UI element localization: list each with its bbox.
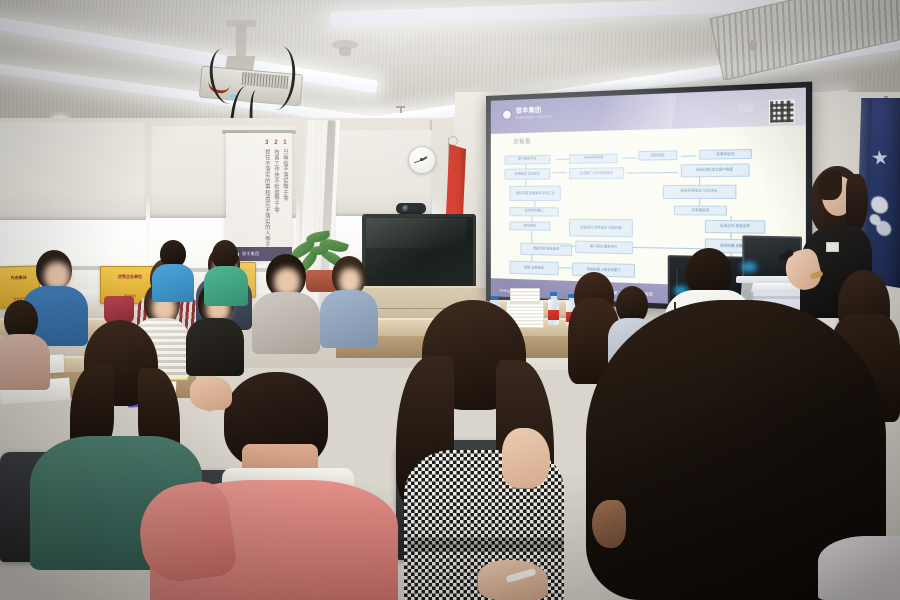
brand-mark-icon [502,109,513,120]
wall-clock-icon [408,146,436,174]
attendee [152,240,194,296]
attendee-checkered-dress [374,300,574,600]
attendee [252,254,322,350]
flow-node: 综合评审会议 讨论决议 [662,184,736,198]
flow-node: 出具正式 批复文件 [705,220,766,234]
flow-connector [680,155,695,156]
flow-connector [558,267,572,268]
banner-column: 2 布置工作信不检查等于零 [273,140,279,244]
attendee-foreground-silhouette [556,300,900,600]
collar [818,536,900,600]
hand [190,376,232,410]
podium-papers [751,284,797,292]
attendee [204,240,248,300]
slide-footer-left: Yinfeng [499,289,510,293]
flow-connector [531,255,532,262]
display-reflection [366,218,466,248]
banner-line: 布置工作信不检查等于零 [273,149,279,213]
attendee-pink-polo [150,372,400,600]
banner-number: 1 [283,140,286,147]
flow-connector [730,216,731,220]
flow-node: 资料初审受理 [570,153,618,163]
flow-node: 合同条款确认 [510,207,559,217]
slide-brand-logo: 银丰集团 YINFENG GROUP [502,107,552,120]
smoke-detector-icon [332,40,358,56]
flow-node: 结项 业务完成 [510,261,559,276]
flow-connector [730,233,731,239]
presenter-name-badge [826,242,839,252]
ear [592,500,626,548]
banner-number: 2 [274,140,277,147]
ceiling-hook [396,106,405,113]
flow-connector [553,172,567,173]
flow-connector [531,216,532,221]
flow-node: 资金划付 财务复核 记账处理 [570,219,633,238]
flow-connector [531,231,532,243]
flow-node: 审批流程 逐级审核 意见汇总 [510,185,561,201]
flow-connector [699,177,700,184]
flow-node: 专家组复核 [674,206,727,216]
qr-caption: 扫码关注 官方微信 [722,103,753,113]
banner-line: 抓住不落实的事和追究不落实的人等于落实 [264,149,270,259]
dress-waist [408,538,564,552]
flow-node: 签署协议书 [699,149,753,160]
flow-node: 现场勘查 实地核实 [504,168,550,180]
flow-connector [622,158,637,159]
qr-code-icon [769,99,795,124]
flow-connector [557,159,569,160]
flow-connector [699,199,700,206]
banner-line: 只命信不落实等于零 [282,149,288,201]
flow-node: 业务部门 初步审核意见 [570,167,624,180]
presenter-hair-side [846,174,868,232]
roller-blind[interactable] [0,122,146,220]
flow-connector [534,201,535,206]
flow-node: 客户提出申请 [504,154,550,164]
seminar-room-photo: 1 只命信不落实等于零 2 布置工作信不检查等于零 3 抓住不落实的事和追究不落… [0,0,900,600]
flow-node: 放款审核 [510,221,550,231]
flow-node: 资料归档 建立客户档案 [680,164,749,178]
flow-node: 档案归档 留存备查 [520,243,572,256]
slide-title: 流程图 [513,138,531,146]
banner-column: 3 抓住不落实的事和追究不落实的人等于落实 [264,140,270,244]
shoulder-skin [502,428,550,488]
attendee [322,256,378,344]
flow-connector [627,172,678,173]
banner-number: 3 [265,140,268,147]
ceiling-fixture [750,40,757,51]
banner-text-columns: 1 只命信不落实等于零 2 布置工作信不检查等于零 3 抓住不落实的事和追究不落… [230,140,288,244]
projector-icon [196,24,314,122]
flow-node: 风险评估 [638,151,677,161]
flow-node: 客户回访 服务评价 [575,241,632,255]
presenter-hair-front [818,170,842,200]
